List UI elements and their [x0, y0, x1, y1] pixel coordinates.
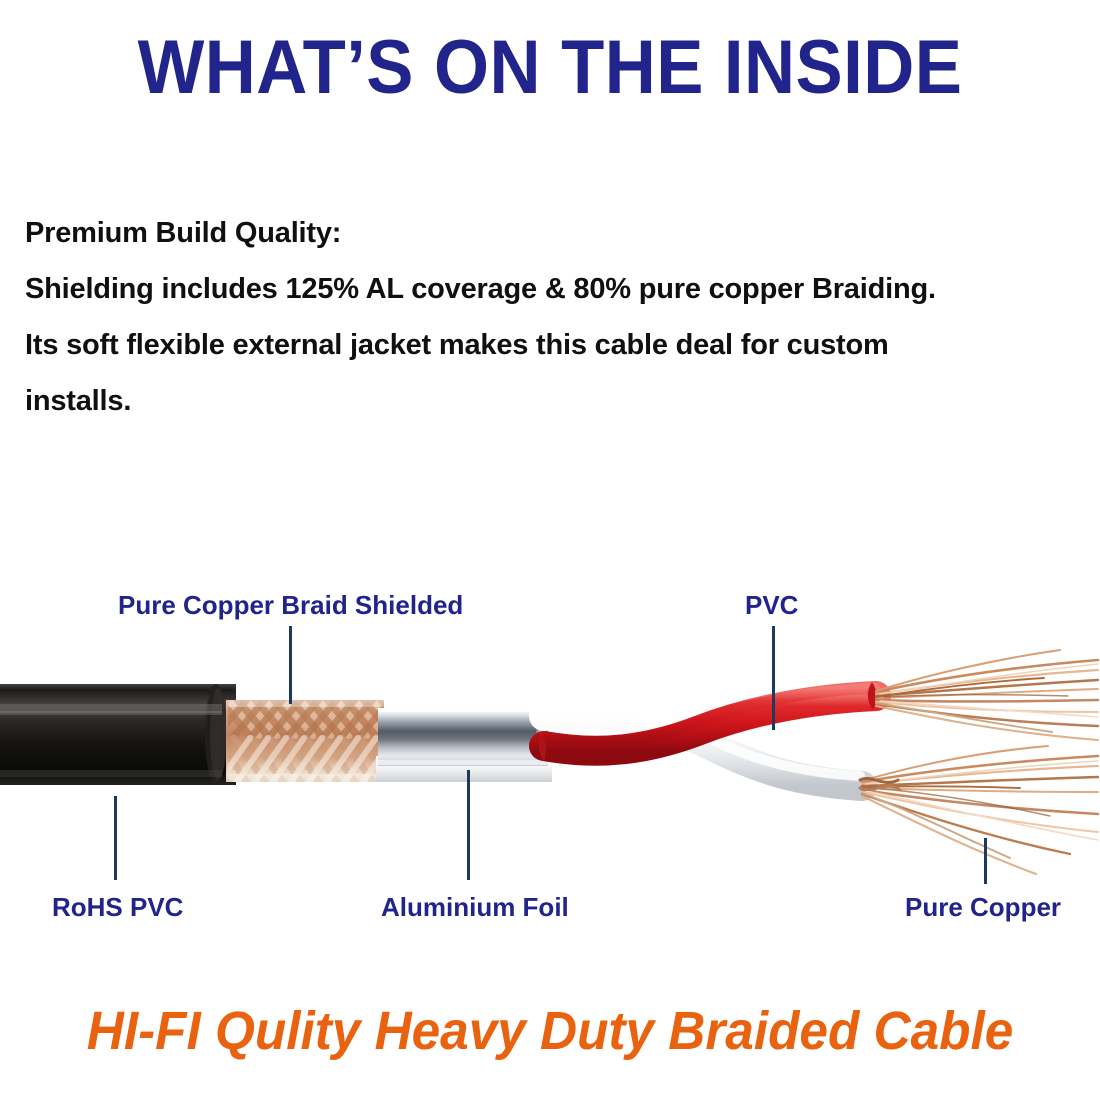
callout-label-aluminium-foil: Aluminium Foil [381, 892, 569, 922]
leader-line-rohs-pvc [114, 796, 117, 880]
leader-line-pure-copper [984, 838, 987, 884]
pvc-conductors-layer [539, 682, 877, 786]
infographic-page: WHAT’S ON THE INSIDE Premium Build Quali… [0, 0, 1100, 1100]
leader-line-aluminium-foil [467, 770, 470, 880]
page-title: WHAT’S ON THE INSIDE [39, 22, 1062, 114]
body-line-1: Premium Build Quality: [25, 205, 1085, 261]
callout-label-pvc: PVC [745, 590, 798, 620]
rohs-pvc-jacket-layer [0, 684, 236, 785]
callout-label-pure-copper-braid-shielded: Pure Copper Braid Shielded [118, 590, 463, 620]
body-line-3: Its soft flexible external jacket makes … [25, 317, 1085, 373]
callout-label-rohs-pvc: RoHS PVC [52, 892, 183, 922]
leader-line-pvc [772, 626, 775, 730]
aluminium-foil-layer [376, 708, 552, 782]
leader-line-braid [289, 626, 292, 704]
footer-tagline: HI-FI Qulity Heavy Duty Braided Cable [28, 998, 1073, 1064]
callout-label-pure-copper: Pure Copper [905, 892, 1061, 922]
body-line-2: Shielding includes 125% AL coverage & 80… [25, 261, 1085, 317]
pure-copper-strands-layer [860, 650, 1098, 874]
body-copy: Premium Build Quality: Shielding include… [25, 205, 1085, 429]
body-line-4: installs. [25, 373, 1085, 429]
